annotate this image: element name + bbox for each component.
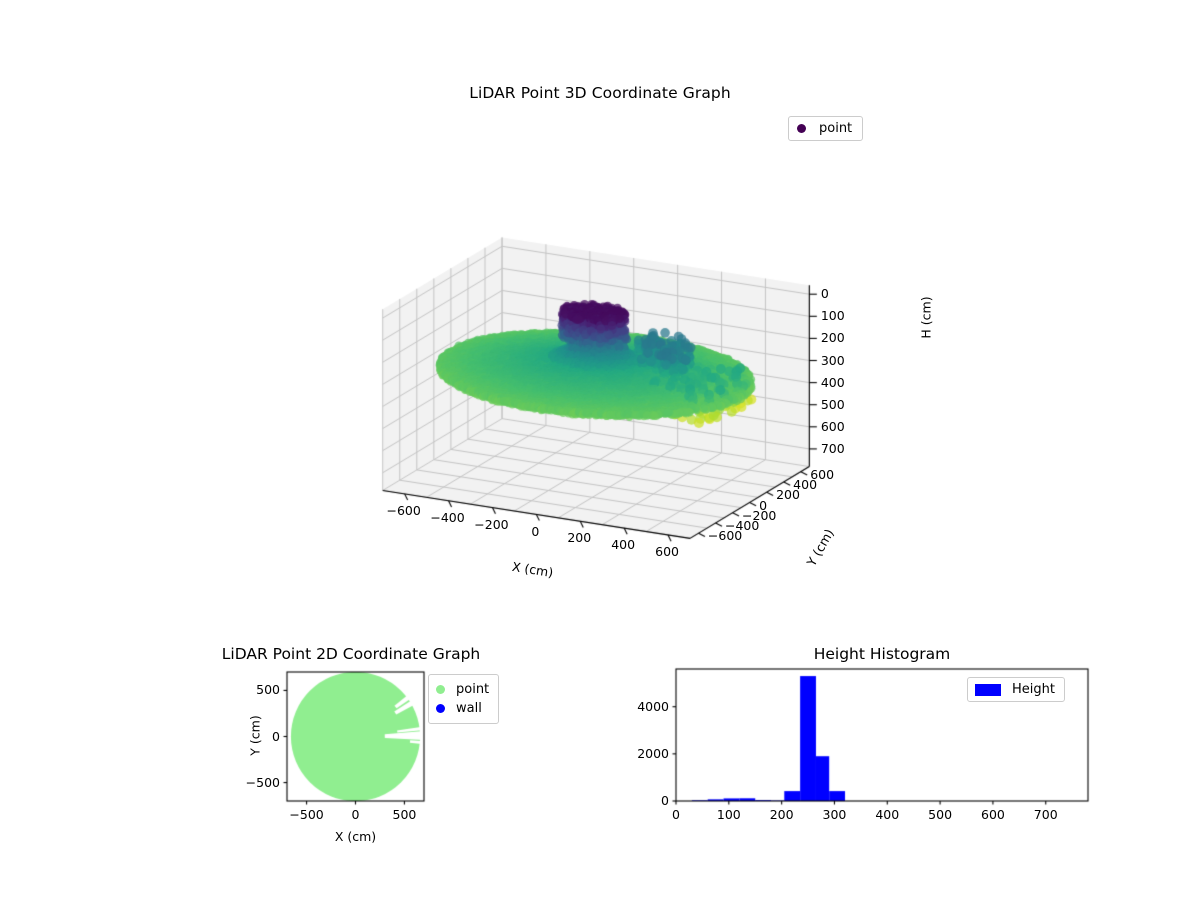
histogram-xtick: 100 (717, 807, 741, 822)
plot3d-zlabel: H (cm) (919, 296, 934, 338)
histogram-ytick: 0 (661, 793, 669, 808)
histogram-xtick: 200 (770, 807, 794, 822)
histogram-xtick: 700 (1034, 807, 1058, 822)
legend-row-height: Height (975, 682, 1055, 697)
histogram-ytick: 4000 (637, 699, 669, 714)
plot3d-ztick: 500 (821, 397, 845, 412)
plot3d-xtick: 0 (531, 524, 539, 539)
histogram-legend: Height (967, 677, 1065, 702)
plot2d-xtick: −500 (289, 807, 323, 822)
plot3d-ztick: 700 (821, 441, 845, 456)
plot3d-ztick: 0 (821, 286, 829, 301)
plot3d-ztick: 100 (821, 308, 845, 323)
histogram-title: Height Histogram (676, 645, 1088, 663)
histogram-xtick: 300 (823, 807, 847, 822)
matplotlib-figure: LiDAR Point 3D Coordinate Graph point Li… (0, 0, 1200, 900)
histogram-ytick: 2000 (637, 746, 669, 761)
plot3d-xtick: 600 (655, 544, 679, 559)
plot3d-xtick: −400 (430, 510, 464, 525)
plot3d-xtick: 400 (611, 537, 635, 552)
legend-swatch-height (975, 684, 1001, 696)
histogram-xtick: 600 (981, 807, 1005, 822)
plot2d-ylabel: Y (cm) (248, 715, 263, 755)
plot3d-ztick: 600 (821, 419, 845, 434)
plot3d-xtick: −200 (474, 517, 508, 532)
plot3d-xtick: −600 (386, 503, 420, 518)
plot2d-ytick: −500 (246, 775, 280, 790)
plot2d-xtick: 500 (392, 807, 416, 822)
plot3d-ztick: 300 (821, 353, 845, 368)
plot3d-ztick: 400 (821, 375, 845, 390)
plot2d-xlabel: X (cm) (335, 829, 376, 844)
histogram-canvas (0, 0, 1200, 900)
plot3d-xtick: 200 (567, 530, 591, 545)
plot3d-ztick: 200 (821, 330, 845, 345)
histogram-xtick: 500 (928, 807, 952, 822)
plot3d-ytick: 600 (810, 467, 834, 482)
plot2d-ytick: 0 (272, 729, 280, 744)
plot3d-ytick: 0 (759, 498, 767, 513)
histogram-xtick: 0 (672, 807, 680, 822)
histogram-xtick: 400 (875, 807, 899, 822)
legend-label-height: Height (1012, 682, 1055, 697)
plot2d-ytick: 500 (256, 682, 280, 697)
plot2d-xtick: 0 (352, 807, 360, 822)
